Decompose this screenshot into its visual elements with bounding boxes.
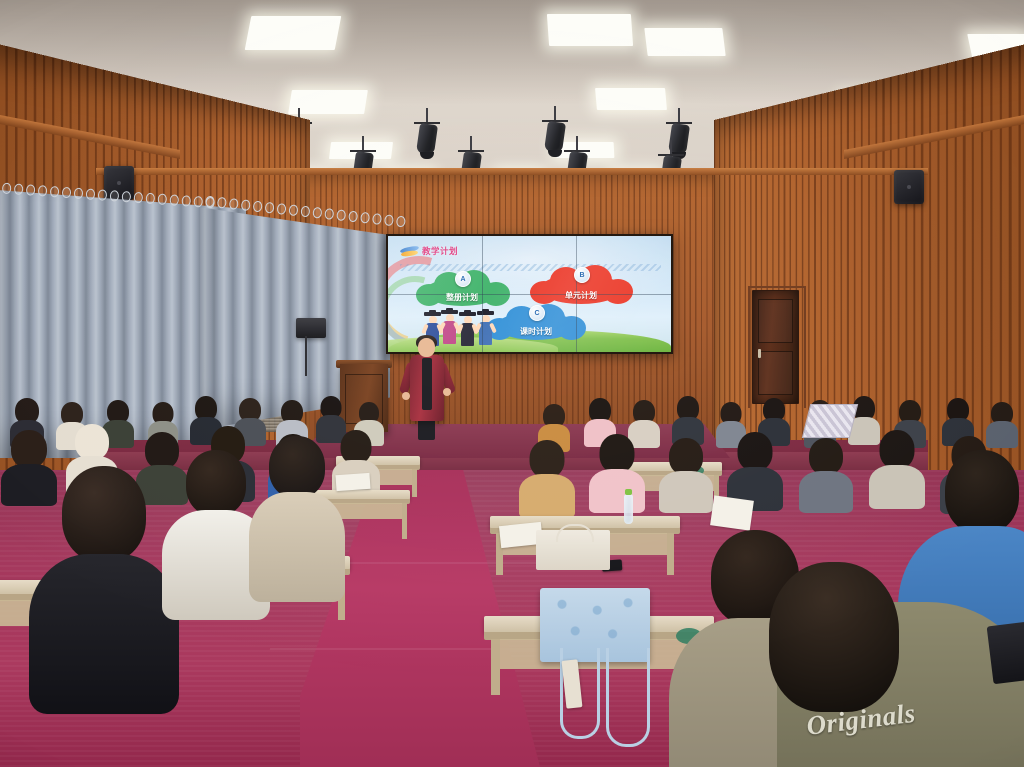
- presenter-legs: [418, 418, 435, 440]
- ceiling-panel-light: [547, 14, 633, 46]
- audience-member: [988, 402, 1016, 446]
- slide-title: 教学计划: [422, 245, 458, 257]
- ceiling-panel-light: [245, 16, 342, 50]
- slide-cloud-b: B 单元计划: [540, 274, 622, 304]
- audience-member: [594, 434, 640, 506]
- ceiling-panel-light: [644, 28, 725, 56]
- slide-cloud-b-badge: B: [574, 267, 590, 283]
- door-handle[interactable]: [758, 349, 761, 358]
- cartoon-child: [479, 311, 492, 345]
- notebook-paper[interactable]: [710, 495, 754, 530]
- slide-cloud-c-label: 课时计划: [520, 326, 552, 340]
- cornice-trim: [96, 168, 928, 175]
- audience-member-foreground-left2: [176, 450, 256, 600]
- ceiling-panel-light: [595, 88, 667, 110]
- microphone-stand: [305, 336, 307, 376]
- ceiling-panel-light: [288, 90, 368, 114]
- audience-member: [732, 432, 778, 504]
- slide-cloud-b-label: 单元计划: [565, 290, 597, 304]
- stage-spotlight: [542, 120, 568, 160]
- audience-member: [674, 396, 702, 442]
- audience-member: [804, 438, 848, 508]
- slide-divider-wave: [400, 264, 661, 271]
- tablet-device[interactable]: [987, 622, 1024, 684]
- open-laptop[interactable]: [802, 404, 858, 438]
- bottle-cap: [625, 489, 632, 495]
- slide-cloud-c: C 课时计划: [496, 312, 576, 340]
- audience-member: [664, 438, 708, 508]
- audience-member: [874, 430, 920, 502]
- slide-cloud-a-badge: A: [455, 271, 471, 287]
- tote-bag-strap: [606, 648, 650, 747]
- presenter-hand-right: [443, 388, 451, 396]
- presenter: [404, 338, 450, 442]
- stage-spotlight: [414, 122, 440, 162]
- video-wall-seam: [388, 294, 671, 295]
- audience-member: [6, 430, 52, 500]
- presenter-head: [418, 338, 435, 357]
- swoosh-logo-icon: [400, 244, 420, 257]
- right-wall-speaker: [894, 170, 924, 204]
- water-bottle[interactable]: [624, 494, 633, 524]
- notebook-paper[interactable]: [335, 473, 370, 491]
- audience-member-foreground-left: [54, 466, 154, 666]
- podium-monitor: [296, 318, 326, 338]
- slide-cloud-c-badge: C: [529, 305, 545, 321]
- lecture-hall-photo: 教学计划 A 整册计划 B 单元计划: [0, 0, 1024, 767]
- presenter-inner-top: [422, 358, 432, 410]
- slide-cloud-a-label: 整册计划: [446, 292, 478, 306]
- door-panel-lower: [758, 351, 793, 395]
- door-panel-upper: [758, 299, 793, 343]
- presenter-hand-left: [402, 392, 410, 400]
- audience-member-foreground-left3: [260, 436, 334, 586]
- audience-member: [524, 440, 570, 512]
- cartoon-child: [461, 312, 474, 346]
- side-door[interactable]: [752, 290, 799, 404]
